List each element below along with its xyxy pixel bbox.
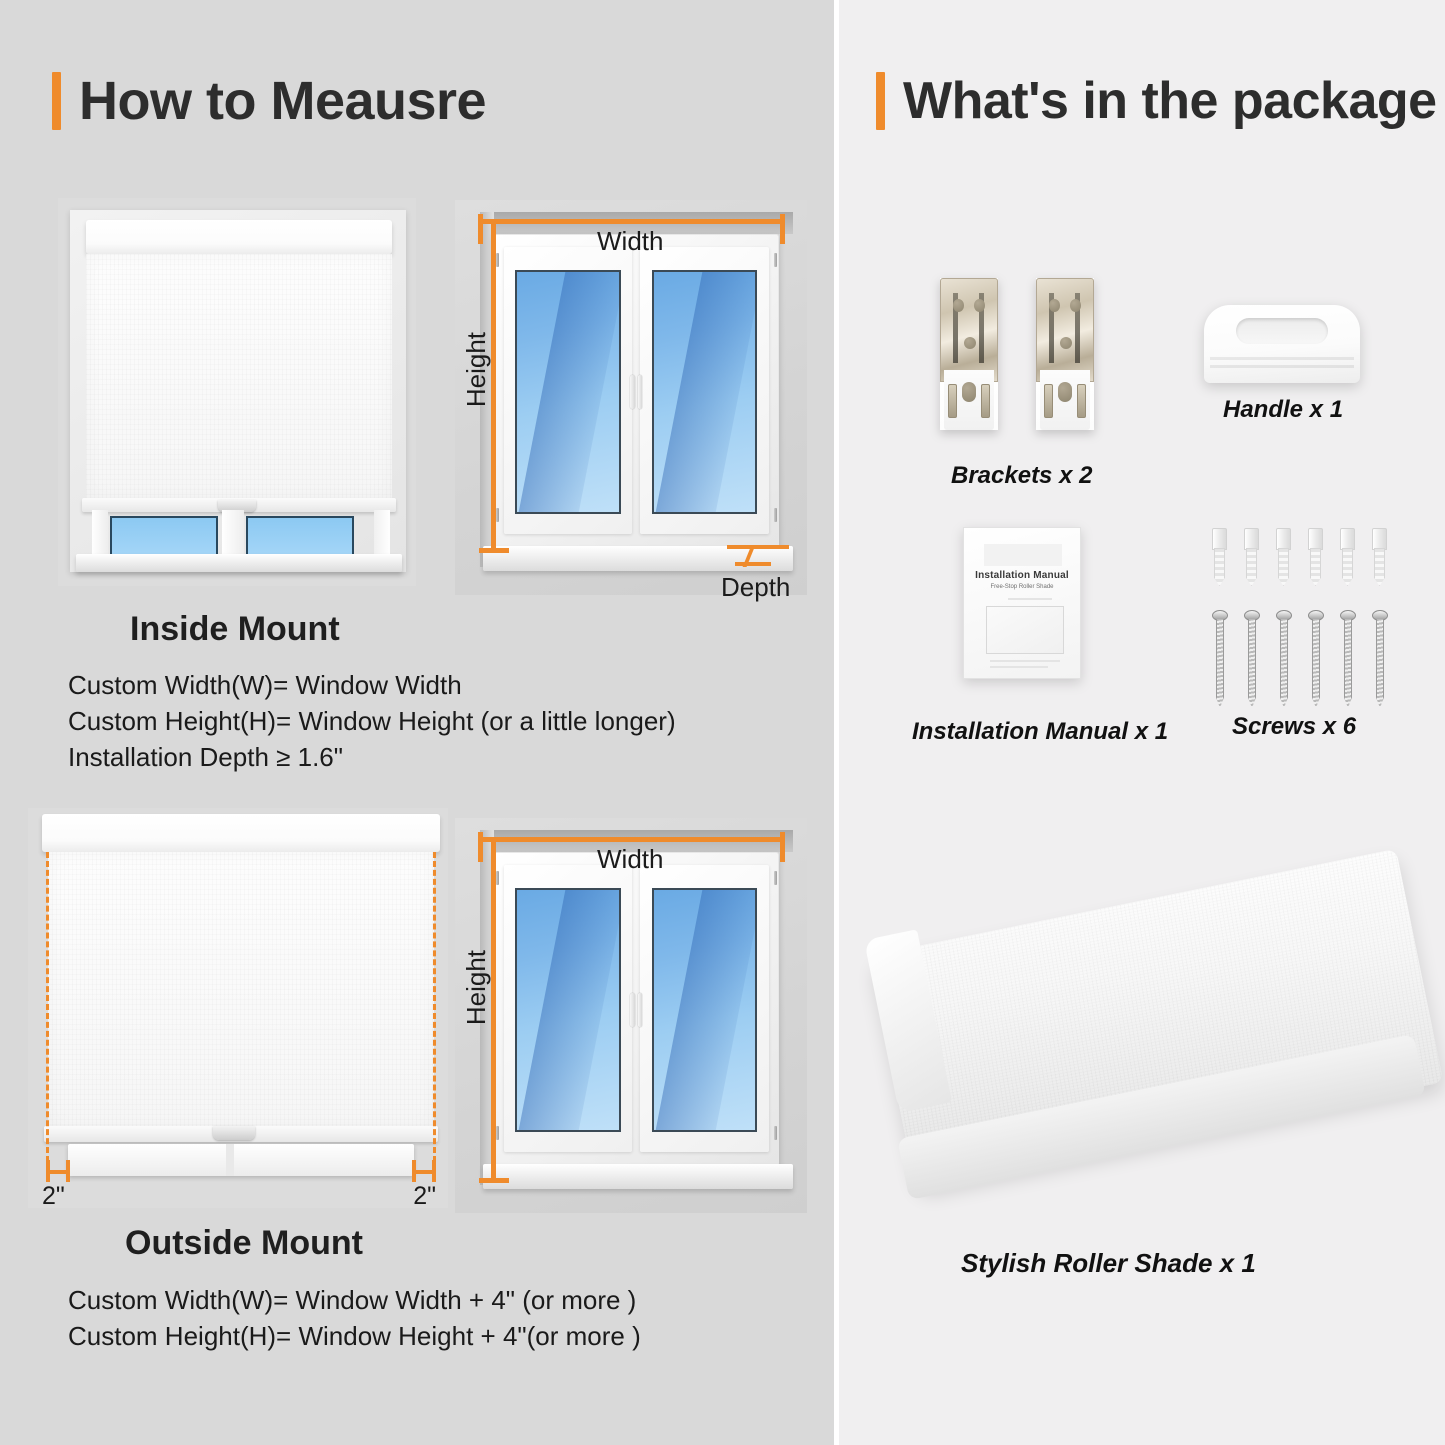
bracket-hole-2 <box>1070 299 1081 312</box>
depth-measure-base <box>735 562 771 566</box>
overhang-cap-left-a <box>46 1160 50 1182</box>
hinge-top-right <box>774 253 777 267</box>
height-label: Height <box>461 950 492 1025</box>
screw-shaft <box>1312 619 1320 708</box>
handle-label: Handle x 1 <box>1223 396 1343 424</box>
inside-mount-window-diagram: Width Height Depth <box>455 200 807 595</box>
manual-rule-1 <box>1008 598 1052 600</box>
bracket-slot-left <box>948 384 957 418</box>
outside-mount-shade-illustration: 2" 2" <box>28 808 448 1208</box>
bracket-item-1 <box>940 278 998 430</box>
hinge-top-right <box>774 871 777 885</box>
handle-slot <box>1236 318 1328 344</box>
manual-rule-3 <box>990 666 1048 668</box>
accent-bar-icon <box>876 72 885 130</box>
screw-shaft <box>1344 619 1352 708</box>
bracket-metal-body <box>940 278 998 382</box>
anchor-head <box>1244 528 1259 550</box>
manual-subtitle: Free-Stop Roller Shade <box>964 584 1080 590</box>
width-label: Width <box>597 226 663 257</box>
bracket-keyhole <box>962 382 976 402</box>
package-title: What's in the package <box>903 75 1437 127</box>
bracket-hole-3 <box>964 337 976 349</box>
height-measure-cap-bottom <box>479 1178 509 1183</box>
bracket-keyhole <box>1058 382 1072 402</box>
screw-shaft <box>1216 619 1224 708</box>
window-sash-right <box>640 865 769 1152</box>
how-to-measure-heading: How to Meausre <box>52 72 486 130</box>
hinge-bottom-right <box>774 1126 777 1140</box>
window-sash-left <box>504 247 633 534</box>
window-sill <box>483 1164 793 1190</box>
anchor-body <box>1278 548 1289 586</box>
manual-header-block <box>984 544 1062 566</box>
anchor-body <box>1246 548 1257 586</box>
overhang-label-right: 2" <box>413 1182 436 1211</box>
window-center-post <box>226 1144 234 1176</box>
wall-anchor-4 <box>1307 528 1324 586</box>
anchor-head <box>1212 528 1227 550</box>
inside-note-1: Custom Width(W)= Window Width <box>68 668 676 704</box>
hinge-top-left <box>496 253 499 267</box>
width-measure-cap-left <box>478 832 483 862</box>
window-glass-right <box>652 270 757 514</box>
depth-label: Depth <box>721 572 790 603</box>
screw-1 <box>1212 610 1228 708</box>
bracket-hole-2 <box>974 299 985 312</box>
overhang-cap-right-a <box>432 1160 436 1182</box>
wall-anchor-1 <box>1211 528 1228 586</box>
window-glass-left <box>515 888 620 1132</box>
overhang-label-left: 2" <box>42 1182 65 1211</box>
infographic-page: How to Meausre <box>0 0 1445 1445</box>
screw-2 <box>1244 610 1260 708</box>
width-measure-cap-right <box>780 214 785 244</box>
roller-shade-label: Stylish Roller Shade x 1 <box>961 1248 1256 1279</box>
window-sill <box>76 554 402 572</box>
window-glass-right <box>246 516 354 556</box>
inside-mount-title: Inside Mount <box>130 610 340 649</box>
hinge-bottom-left <box>496 1126 499 1140</box>
outside-mount-notes: Custom Width(W)= Window Width + 4" (or m… <box>68 1283 641 1355</box>
brackets-label: Brackets x 2 <box>951 462 1092 490</box>
anchor-body <box>1374 548 1385 586</box>
installation-manual-part: Installation Manual Free-Stop Roller Sha… <box>963 527 1081 679</box>
wall-anchor-5 <box>1339 528 1356 586</box>
wall-anchor-3 <box>1275 528 1292 586</box>
wall-anchor-6 <box>1371 528 1388 586</box>
bracket-slot-left <box>1044 384 1053 418</box>
shade-valance <box>86 220 392 254</box>
manual-illustration-box <box>986 606 1064 654</box>
window-glass-left <box>110 516 218 556</box>
bracket-hole-3 <box>1060 337 1072 349</box>
anchor-body <box>1310 548 1321 586</box>
anchor-body <box>1214 548 1225 586</box>
window-glass-right <box>652 888 757 1132</box>
inside-note-3: Installation Depth ≥ 1.6" <box>68 740 676 776</box>
outside-note-1: Custom Width(W)= Window Width + 4" (or m… <box>68 1283 641 1319</box>
height-measure-cap-bottom <box>479 548 509 553</box>
bracket-slot-right <box>981 384 990 418</box>
window-sill <box>68 1144 414 1176</box>
bracket-item-2 <box>1036 278 1094 430</box>
bracket-slot-right <box>1077 384 1086 418</box>
manual-title: Installation Manual <box>964 570 1080 581</box>
bracket-plastic-body <box>1040 370 1090 430</box>
bracket-hole-1 <box>953 299 964 312</box>
window-handle-left <box>630 375 635 409</box>
hinge-bottom-right <box>774 508 777 522</box>
wall-anchor-2 <box>1243 528 1260 586</box>
window-handle-right <box>638 993 643 1027</box>
screw-shaft <box>1376 619 1384 708</box>
window-sash-right <box>640 247 769 534</box>
window-handle-right <box>638 375 643 409</box>
anchor-head <box>1372 528 1387 550</box>
window-handles <box>628 993 645 1027</box>
roller-shade-product <box>887 900 1425 1138</box>
bracket-metal-body <box>1036 278 1094 382</box>
depth-measure-line <box>727 545 789 549</box>
inside-mount-notes: Custom Width(W)= Window Width Custom Hei… <box>68 668 676 776</box>
anchor-head <box>1340 528 1355 550</box>
inside-mount-shade-illustration <box>58 198 416 586</box>
width-measure-cap-right <box>780 832 785 862</box>
right-panel-package-contents: What's in the package <box>839 0 1445 1445</box>
outside-note-2: Custom Height(H)= Window Height + 4"(or … <box>68 1319 641 1355</box>
anchor-head <box>1276 528 1291 550</box>
width-label: Width <box>597 844 663 875</box>
overhang-dash-right <box>433 852 436 1162</box>
handle-groove-2 <box>1210 365 1354 368</box>
accent-bar-icon <box>52 72 61 130</box>
screw-6 <box>1372 610 1388 708</box>
shade-valance <box>42 814 440 852</box>
window-frame <box>494 234 779 548</box>
bracket-plastic-body <box>944 370 994 430</box>
shade-fabric <box>86 254 392 500</box>
hinge-top-left <box>496 871 499 885</box>
window-handles <box>628 375 645 409</box>
width-measure-line <box>480 837 783 842</box>
screw-shaft <box>1248 619 1256 708</box>
package-heading: What's in the package <box>876 72 1437 130</box>
overhang-cap-left-b <box>66 1160 70 1182</box>
screws-label: Screws x 6 <box>1232 713 1356 741</box>
outside-mount-window-diagram: Width Height <box>455 818 807 1213</box>
width-measure-line <box>480 219 783 224</box>
window-sash-left <box>504 865 633 1152</box>
window-glass-left <box>515 270 620 514</box>
window-handle-left <box>630 993 635 1027</box>
shade-pull-handle <box>213 1126 255 1140</box>
window-frame <box>494 852 779 1166</box>
anchor-head <box>1308 528 1323 550</box>
height-label: Height <box>461 332 492 407</box>
screw-4 <box>1308 610 1324 708</box>
screw-3 <box>1276 610 1292 708</box>
handle-part <box>1204 305 1360 383</box>
screw-5 <box>1340 610 1356 708</box>
left-panel-how-to-measure: How to Meausre <box>0 0 834 1445</box>
bracket-hole-1 <box>1049 299 1060 312</box>
manual-rule-2 <box>990 660 1060 662</box>
shade-fabric <box>48 852 434 1130</box>
screw-shaft <box>1280 619 1288 708</box>
outside-mount-title: Outside Mount <box>125 1224 363 1263</box>
hinge-bottom-left <box>496 508 499 522</box>
width-measure-cap-left <box>478 214 483 244</box>
overhang-dash-left <box>46 852 49 1162</box>
overhang-cap-right-b <box>412 1160 416 1182</box>
how-to-measure-title: How to Meausre <box>79 74 486 128</box>
manual-label: Installation Manual x 1 <box>912 718 1168 746</box>
handle-groove-1 <box>1210 357 1354 360</box>
anchor-body <box>1342 548 1353 586</box>
inside-note-2: Custom Height(H)= Window Height (or a li… <box>68 704 676 740</box>
